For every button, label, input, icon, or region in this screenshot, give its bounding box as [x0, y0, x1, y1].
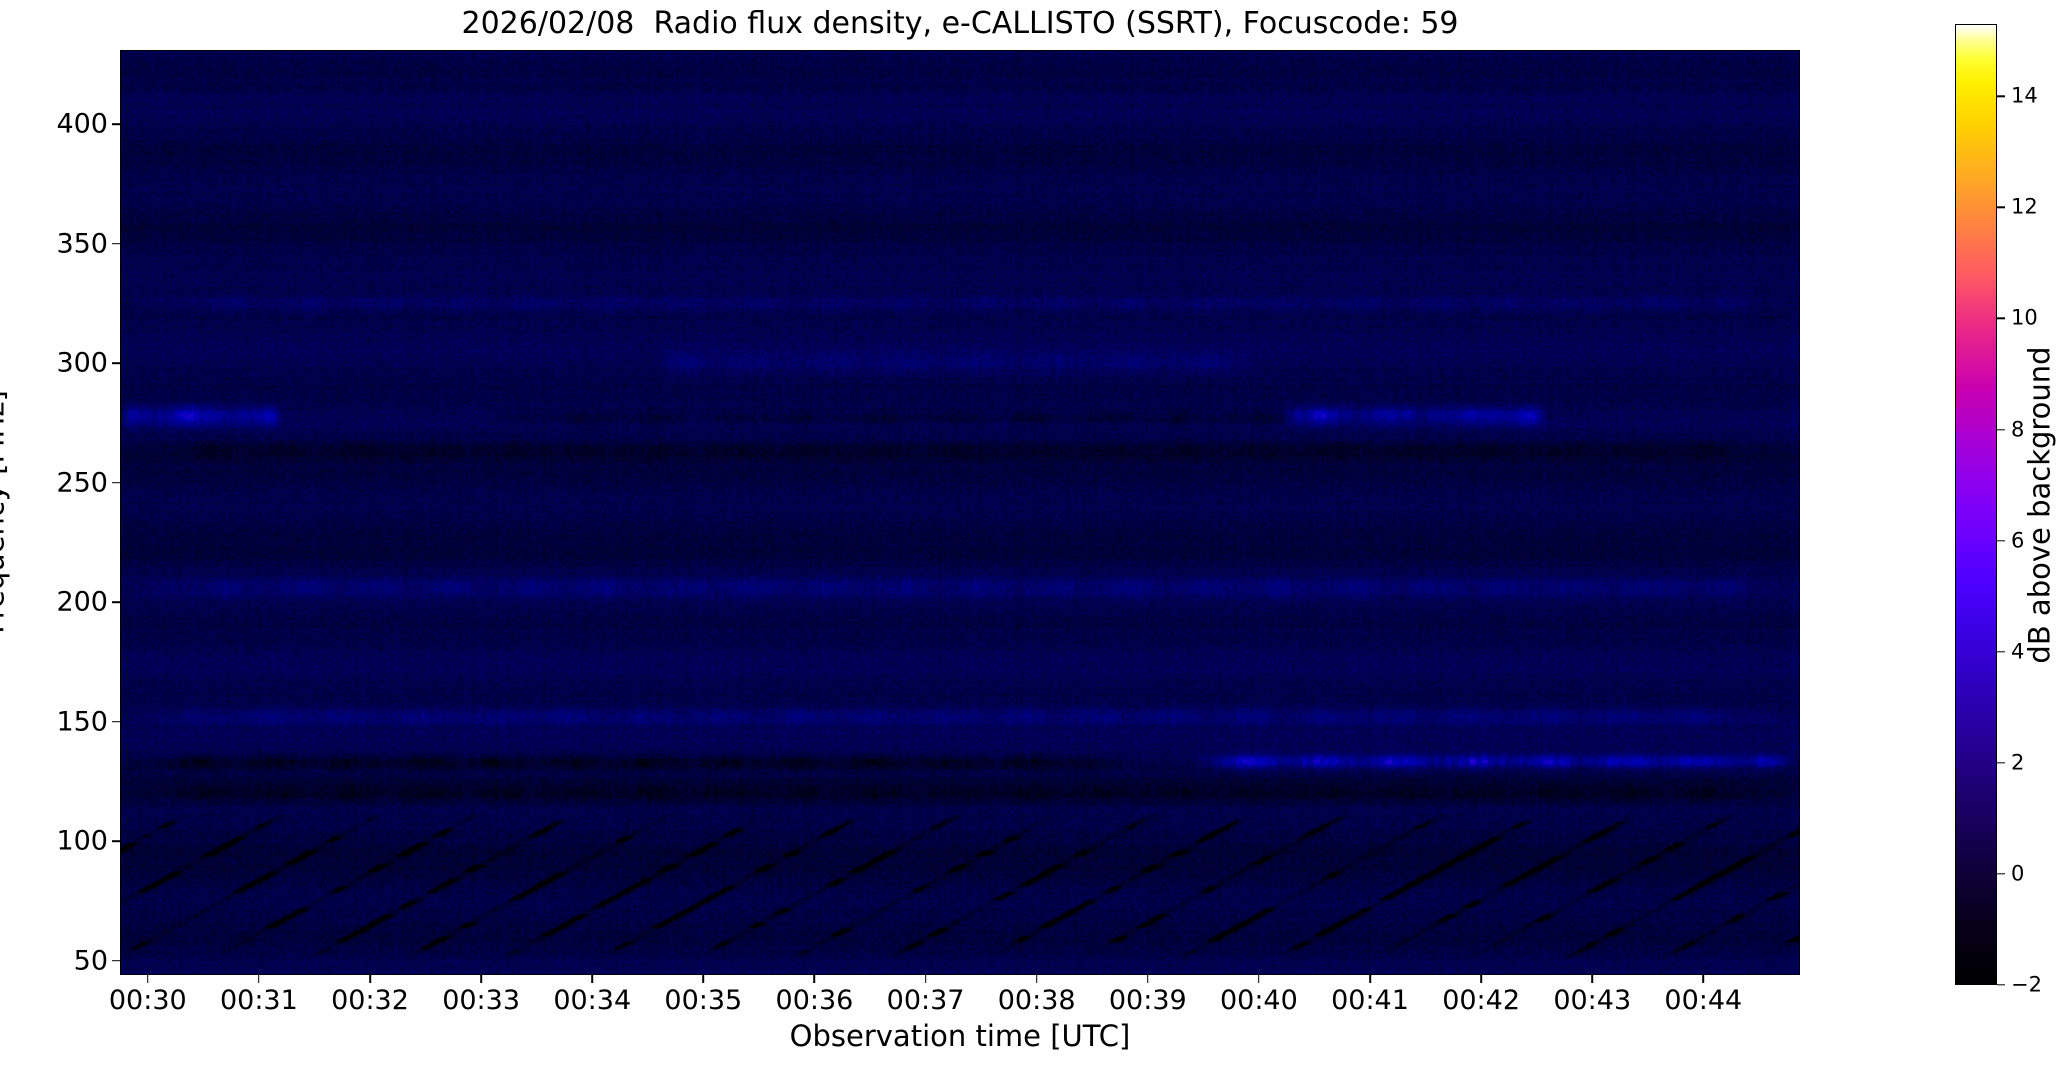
y-tick-mark: [112, 482, 120, 484]
colorbar-tick-mark: [1997, 984, 2005, 985]
y-tick-label: 50: [18, 947, 108, 974]
y-tick-mark: [112, 960, 120, 962]
y-tick-mark: [112, 362, 120, 364]
y-tick-mark: [112, 840, 120, 842]
x-tick-mark: [703, 975, 705, 983]
colorbar-tick-mark: [1997, 873, 2005, 874]
x-tick-mark: [1591, 975, 1593, 983]
x-tick-mark: [147, 975, 149, 983]
x-tick-mark: [1258, 975, 1260, 983]
y-tick-label: 400: [18, 111, 108, 138]
x-tick-mark: [1703, 975, 1705, 983]
colorbar-tick-label: −2: [2011, 975, 2042, 996]
figure-canvas: 2026/02/08 Radio flux density, e-CALLIST…: [0, 0, 2066, 1067]
x-tick-mark: [1480, 975, 1482, 983]
y-tick-label: 250: [18, 469, 108, 496]
colorbar-tick-mark: [1997, 540, 2005, 541]
x-tick-mark: [814, 975, 816, 983]
y-tick-mark: [112, 601, 120, 603]
x-axis-label: Observation time [UTC]: [120, 1022, 1800, 1051]
spectrogram-image: [121, 51, 1799, 974]
y-tick-mark: [112, 721, 120, 723]
x-tick-label: 00:44: [1623, 987, 1783, 1014]
y-tick-mark: [112, 243, 120, 245]
colorbar-tick-label: 0: [2011, 863, 2024, 884]
colorbar-tick-mark: [1997, 762, 2005, 763]
colorbar-tick-label: 10: [2011, 308, 2038, 329]
colorbar-tick-label: 12: [2011, 197, 2038, 218]
y-tick-label: 150: [18, 708, 108, 735]
colorbar-tick-mark: [1997, 96, 2005, 97]
figure-title: 2026/02/08 Radio flux density, e-CALLIST…: [120, 2, 1800, 46]
x-tick-mark: [591, 975, 593, 983]
x-tick-mark: [1369, 975, 1371, 983]
x-tick-mark: [1147, 975, 1149, 983]
y-tick-label: 300: [18, 350, 108, 377]
y-axis-label: Frequency [MHz]: [0, 390, 9, 634]
colorbar-tick-mark: [1997, 207, 2005, 208]
y-tick-label: 200: [18, 589, 108, 616]
x-tick-mark: [1036, 975, 1038, 983]
spectrogram-axes[interactable]: [120, 50, 1800, 975]
colorbar-tick-mark: [1997, 429, 2005, 430]
colorbar-label: dB above background: [2026, 346, 2055, 663]
x-tick-mark: [480, 975, 482, 983]
x-tick-mark: [925, 975, 927, 983]
y-tick-label: 100: [18, 828, 108, 855]
colorbar-tick-mark: [1997, 651, 2005, 652]
colorbar-tick-mark: [1997, 318, 2005, 319]
y-tick-mark: [112, 123, 120, 125]
colorbar[interactable]: [1955, 24, 1997, 985]
x-tick-mark: [258, 975, 260, 983]
y-tick-label: 350: [18, 230, 108, 257]
x-tick-mark: [369, 975, 371, 983]
colorbar-tick-label: 14: [2011, 86, 2038, 107]
colorbar-tick-label: 2: [2011, 752, 2024, 773]
